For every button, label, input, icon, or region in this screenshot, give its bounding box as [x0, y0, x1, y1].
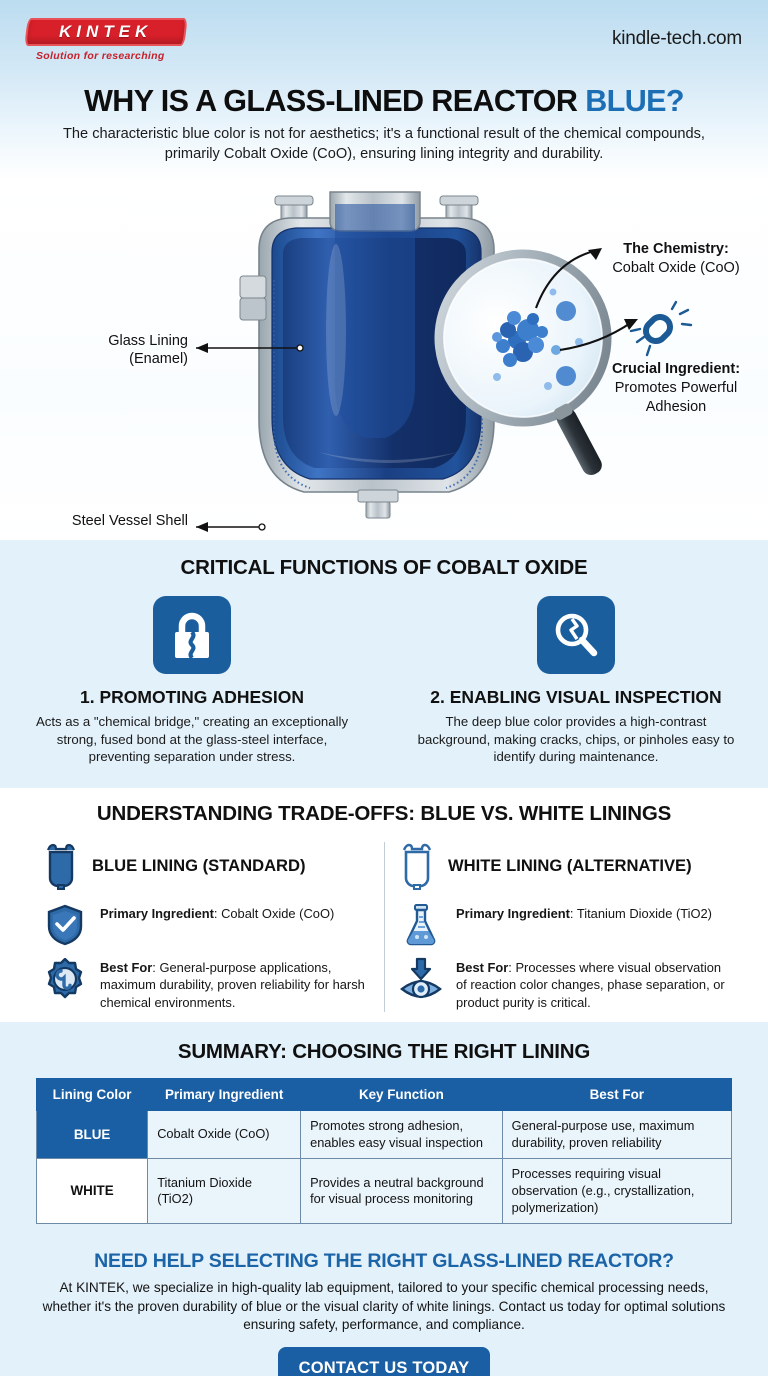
arrow-steel-shell — [196, 522, 208, 532]
tradeoff-blue-header: BLUE LINING (STANDARD) — [42, 838, 370, 894]
callout-ingredient-value-line1: Promotes Powerful — [586, 379, 766, 398]
arrow-glass-lining — [196, 343, 208, 353]
row-blue-color: BLUE — [37, 1111, 148, 1159]
logo-tagline: Solution for researching — [36, 50, 216, 62]
cta-body: At KINTEK, we specialize in high-quality… — [34, 1279, 734, 1334]
summary-table-wrap: Lining Color Primary Ingredient Key Func… — [0, 1078, 768, 1224]
tradeoff-blue-row-2-label: Best For — [100, 960, 152, 975]
flask-icon — [398, 902, 444, 948]
broken-lock-icon — [153, 596, 231, 674]
function-card-2-heading: 2. ENABLING VISUAL INSPECTION — [384, 687, 768, 708]
header-top-row: KINTEK Solution for researching kindle-t… — [26, 18, 742, 62]
reactor-diagram-section: Glass Lining (Enamel) Steel Vessel Shell… — [0, 180, 768, 540]
tradeoff-blue-row-1-label: Primary Ingredient — [100, 906, 214, 921]
tradeoff-white-row-1-label: Primary Ingredient — [456, 906, 570, 921]
callout-chemistry: The Chemistry: Cobalt Oxide (CoO) — [588, 240, 764, 278]
tradeoffs-columns: BLUE LINING (STANDARD) Primary Ingredien… — [0, 838, 768, 1016]
summary-table-head: Lining Color Primary Ingredient Key Func… — [37, 1079, 732, 1111]
callout-glass-lining-line2: (Enamel) — [20, 350, 188, 368]
callout-ingredient: Crucial Ingredient: Promotes Powerful Ad… — [586, 360, 766, 417]
cracked-magnifier-glyph — [552, 610, 600, 660]
col-header-primary-ingredient: Primary Ingredient — [148, 1079, 301, 1111]
function-card-2: 2. ENABLING VISUAL INSPECTION The deep b… — [384, 596, 768, 766]
page-title: WHY IS A GLASS-LINED REACTOR BLUE? — [26, 84, 742, 119]
blue-reactor-icon — [42, 842, 80, 890]
arrow-eye-glyph — [400, 957, 442, 1001]
page-title-main: WHY IS A GLASS-LINED REACTOR — [84, 84, 585, 118]
tradeoff-column-white: WHITE LINING (ALTERNATIVE) — [384, 838, 740, 1016]
summary-title: SUMMARY: CHOOSING THE RIGHT LINING — [0, 1040, 768, 1064]
row-white-ingredient: Titanium Dioxide (TiO2) — [148, 1159, 301, 1224]
critical-functions-list: 1. PROMOTING ADHESION Acts as a "chemica… — [0, 596, 768, 766]
critical-functions-title: CRITICAL FUNCTIONS OF COBALT OXIDE — [0, 556, 768, 580]
cracked-magnifier-icon — [537, 596, 615, 674]
row-blue-best-for: General-purpose use, maximum durability,… — [502, 1111, 731, 1159]
cta-title: NEED HELP SELECTING THE RIGHT GLASS-LINE… — [0, 1250, 768, 1273]
row-blue-function: Promotes strong adhesion, enables easy v… — [301, 1111, 503, 1159]
row-white-best-for: Processes requiring visual observation (… — [502, 1159, 731, 1224]
callout-steel-shell: Steel Vessel Shell — [8, 512, 188, 530]
shield-check-glyph — [46, 904, 84, 946]
callout-steel-shell-label: Steel Vessel Shell — [8, 512, 188, 530]
function-card-2-body: The deep blue color provides a high-cont… — [411, 713, 741, 766]
tradeoff-white-heading: WHITE LINING (ALTERNATIVE) — [448, 856, 692, 876]
chain-link-icon — [631, 302, 691, 355]
table-row: BLUE Cobalt Oxide (CoO) Promotes strong … — [37, 1111, 732, 1159]
contact-us-button[interactable]: CONTACT US TODAY — [278, 1347, 490, 1376]
tradeoff-white-row-2-label: Best For — [456, 960, 508, 975]
broken-lock-glyph — [169, 610, 215, 660]
tradeoffs-section: UNDERSTANDING TRADE-OFFS: BLUE VS. WHITE… — [0, 788, 768, 1022]
tradeoff-blue-row-1: Primary Ingredient: Cobalt Oxide (CoO) — [42, 902, 370, 948]
critical-functions-section: CRITICAL FUNCTIONS OF COBALT OXIDE 1. PR… — [0, 540, 768, 788]
callout-ingredient-label: Crucial Ingredient: — [586, 360, 766, 379]
tradeoff-blue-row-1-text: Primary Ingredient: Cobalt Oxide (CoO) — [100, 902, 334, 922]
summary-table: Lining Color Primary Ingredient Key Func… — [36, 1078, 732, 1224]
callout-ingredient-value-line2: Adhesion — [586, 398, 766, 417]
tradeoff-white-row-1-value: : Titanium Dioxide (TiO2) — [570, 906, 712, 921]
tradeoff-blue-row-2: Best For: General-purpose applications, … — [42, 956, 370, 1011]
callout-glass-lining-line1: Glass Lining — [20, 332, 188, 350]
tradeoff-blue-heading: BLUE LINING (STANDARD) — [92, 856, 306, 876]
brand-logo: KINTEK Solution for researching — [26, 18, 216, 62]
arrow-eye-icon — [398, 956, 444, 1002]
function-card-1-body: Acts as a "chemical bridge," creating an… — [27, 713, 357, 766]
function-card-1-heading: 1. PROMOTING ADHESION — [0, 687, 384, 708]
tradeoffs-divider — [384, 842, 385, 1012]
tradeoff-white-row-2: Best For: Processes where visual observa… — [398, 956, 726, 1011]
tradeoff-white-row-1-text: Primary Ingredient: Titanium Dioxide (Ti… — [456, 902, 712, 922]
col-header-key-function: Key Function — [301, 1079, 503, 1111]
tradeoff-white-row-2-text: Best For: Processes where visual observa… — [456, 956, 726, 1011]
tradeoff-blue-row-2-text: Best For: General-purpose applications, … — [100, 956, 370, 1011]
row-white-color: WHITE — [37, 1159, 148, 1224]
function-card-1: 1. PROMOTING ADHESION Acts as a "chemica… — [0, 596, 384, 766]
page-title-accent: BLUE? — [585, 84, 684, 118]
gear-wrench-icon — [42, 956, 88, 1002]
shield-check-icon — [42, 902, 88, 948]
callout-glass-lining: Glass Lining (Enamel) — [20, 332, 188, 368]
logo-wordmark: KINTEK — [59, 22, 152, 42]
infographic-page: KINTEK Solution for researching kindle-t… — [0, 0, 768, 1376]
site-url: kindle-tech.com — [612, 18, 742, 50]
gear-wrench-glyph — [44, 958, 86, 1000]
tradeoff-blue-row-1-value: : Cobalt Oxide (CoO) — [214, 906, 334, 921]
row-white-function: Provides a neutral background for visual… — [301, 1159, 503, 1224]
table-header-row: Lining Color Primary Ingredient Key Func… — [37, 1079, 732, 1111]
page-subtitle: The characteristic blue color is not for… — [39, 125, 729, 164]
col-header-lining-color: Lining Color — [37, 1079, 148, 1111]
cta-section: NEED HELP SELECTING THE RIGHT GLASS-LINE… — [0, 1250, 768, 1376]
row-blue-ingredient: Cobalt Oxide (CoO) — [148, 1111, 301, 1159]
logo-badge: KINTEK — [24, 18, 187, 46]
callout-chemistry-value: Cobalt Oxide (CoO) — [588, 259, 764, 278]
col-header-best-for: Best For — [502, 1079, 731, 1111]
white-reactor-icon — [398, 842, 436, 890]
summary-section: SUMMARY: CHOOSING THE RIGHT LINING Linin… — [0, 1022, 768, 1376]
header: KINTEK Solution for researching kindle-t… — [0, 0, 768, 180]
callout-chemistry-label: The Chemistry: — [588, 240, 764, 259]
tradeoff-white-row-1: Primary Ingredient: Titanium Dioxide (Ti… — [398, 902, 726, 948]
flask-glyph — [404, 903, 438, 947]
tradeoffs-title: UNDERSTANDING TRADE-OFFS: BLUE VS. WHITE… — [0, 802, 768, 826]
table-row: WHITE Titanium Dioxide (TiO2) Provides a… — [37, 1159, 732, 1224]
summary-table-body: BLUE Cobalt Oxide (CoO) Promotes strong … — [37, 1111, 732, 1224]
tradeoff-white-header: WHITE LINING (ALTERNATIVE) — [398, 838, 726, 894]
tradeoff-column-blue: BLUE LINING (STANDARD) Primary Ingredien… — [28, 838, 384, 1016]
